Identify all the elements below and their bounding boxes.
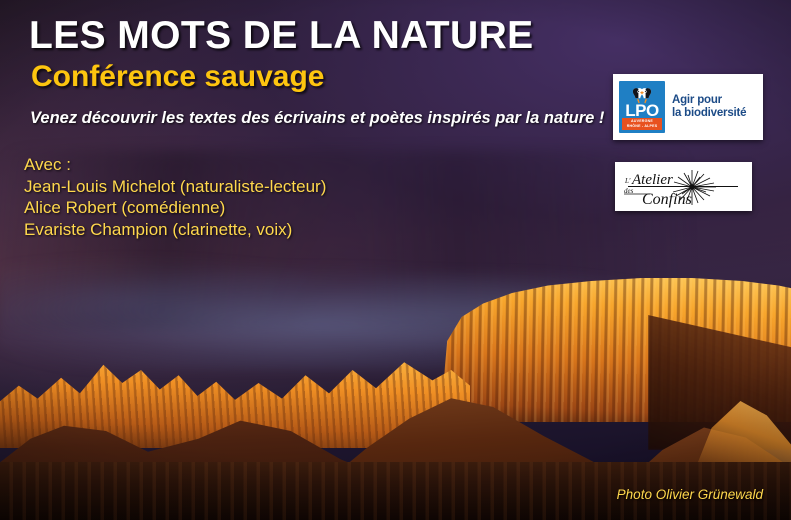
atelier-logo-card[interactable]: L' Atelier des Confins xyxy=(615,162,752,211)
atelier-article-2: des xyxy=(624,187,634,195)
poster-tagline: Venez découvrir les textes des écrivains… xyxy=(30,109,604,128)
atelier-line-1: Atelier xyxy=(631,172,673,188)
cast-member: Evariste Champion (clarinette, voix) xyxy=(24,219,326,241)
poster-canvas: LES MOTS DE LA NATURE Conférence sauvage… xyxy=(0,0,791,520)
cast-member: Jean-Louis Michelot (naturaliste-lecteur… xyxy=(24,176,326,198)
lpo-logo-card[interactable]: LPO AUVERGNE RHÔNE - ALPES Agir pour la … xyxy=(613,74,763,140)
atelier-line-2: Confins xyxy=(642,191,692,208)
lpo-slogan-line-1: Agir pour xyxy=(672,94,746,108)
lpo-region-banner: AUVERGNE RHÔNE - ALPES xyxy=(622,118,662,130)
atelier-des-confins-logo: L' Atelier des Confins xyxy=(620,166,748,208)
lpo-acronym: LPO xyxy=(619,102,665,119)
cast-member: Alice Robert (comédienne) xyxy=(24,197,326,219)
photo-credit: Photo Olivier Grünewald xyxy=(617,487,763,502)
cast-heading: Avec : xyxy=(24,154,326,176)
lpo-slogan: Agir pour la biodiversité xyxy=(672,94,746,121)
poster-subtitle: Conférence sauvage xyxy=(31,62,324,92)
lpo-logo-mark: LPO AUVERGNE RHÔNE - ALPES xyxy=(619,81,665,133)
lpo-slogan-line-2: la biodiversité xyxy=(672,107,746,121)
lpo-region-line-2: RHÔNE - ALPES xyxy=(622,124,662,129)
cast-list: Avec : Jean-Louis Michelot (naturaliste-… xyxy=(24,154,326,240)
atelier-article: L' xyxy=(624,177,631,185)
poster-title: LES MOTS DE LA NATURE xyxy=(29,16,534,55)
